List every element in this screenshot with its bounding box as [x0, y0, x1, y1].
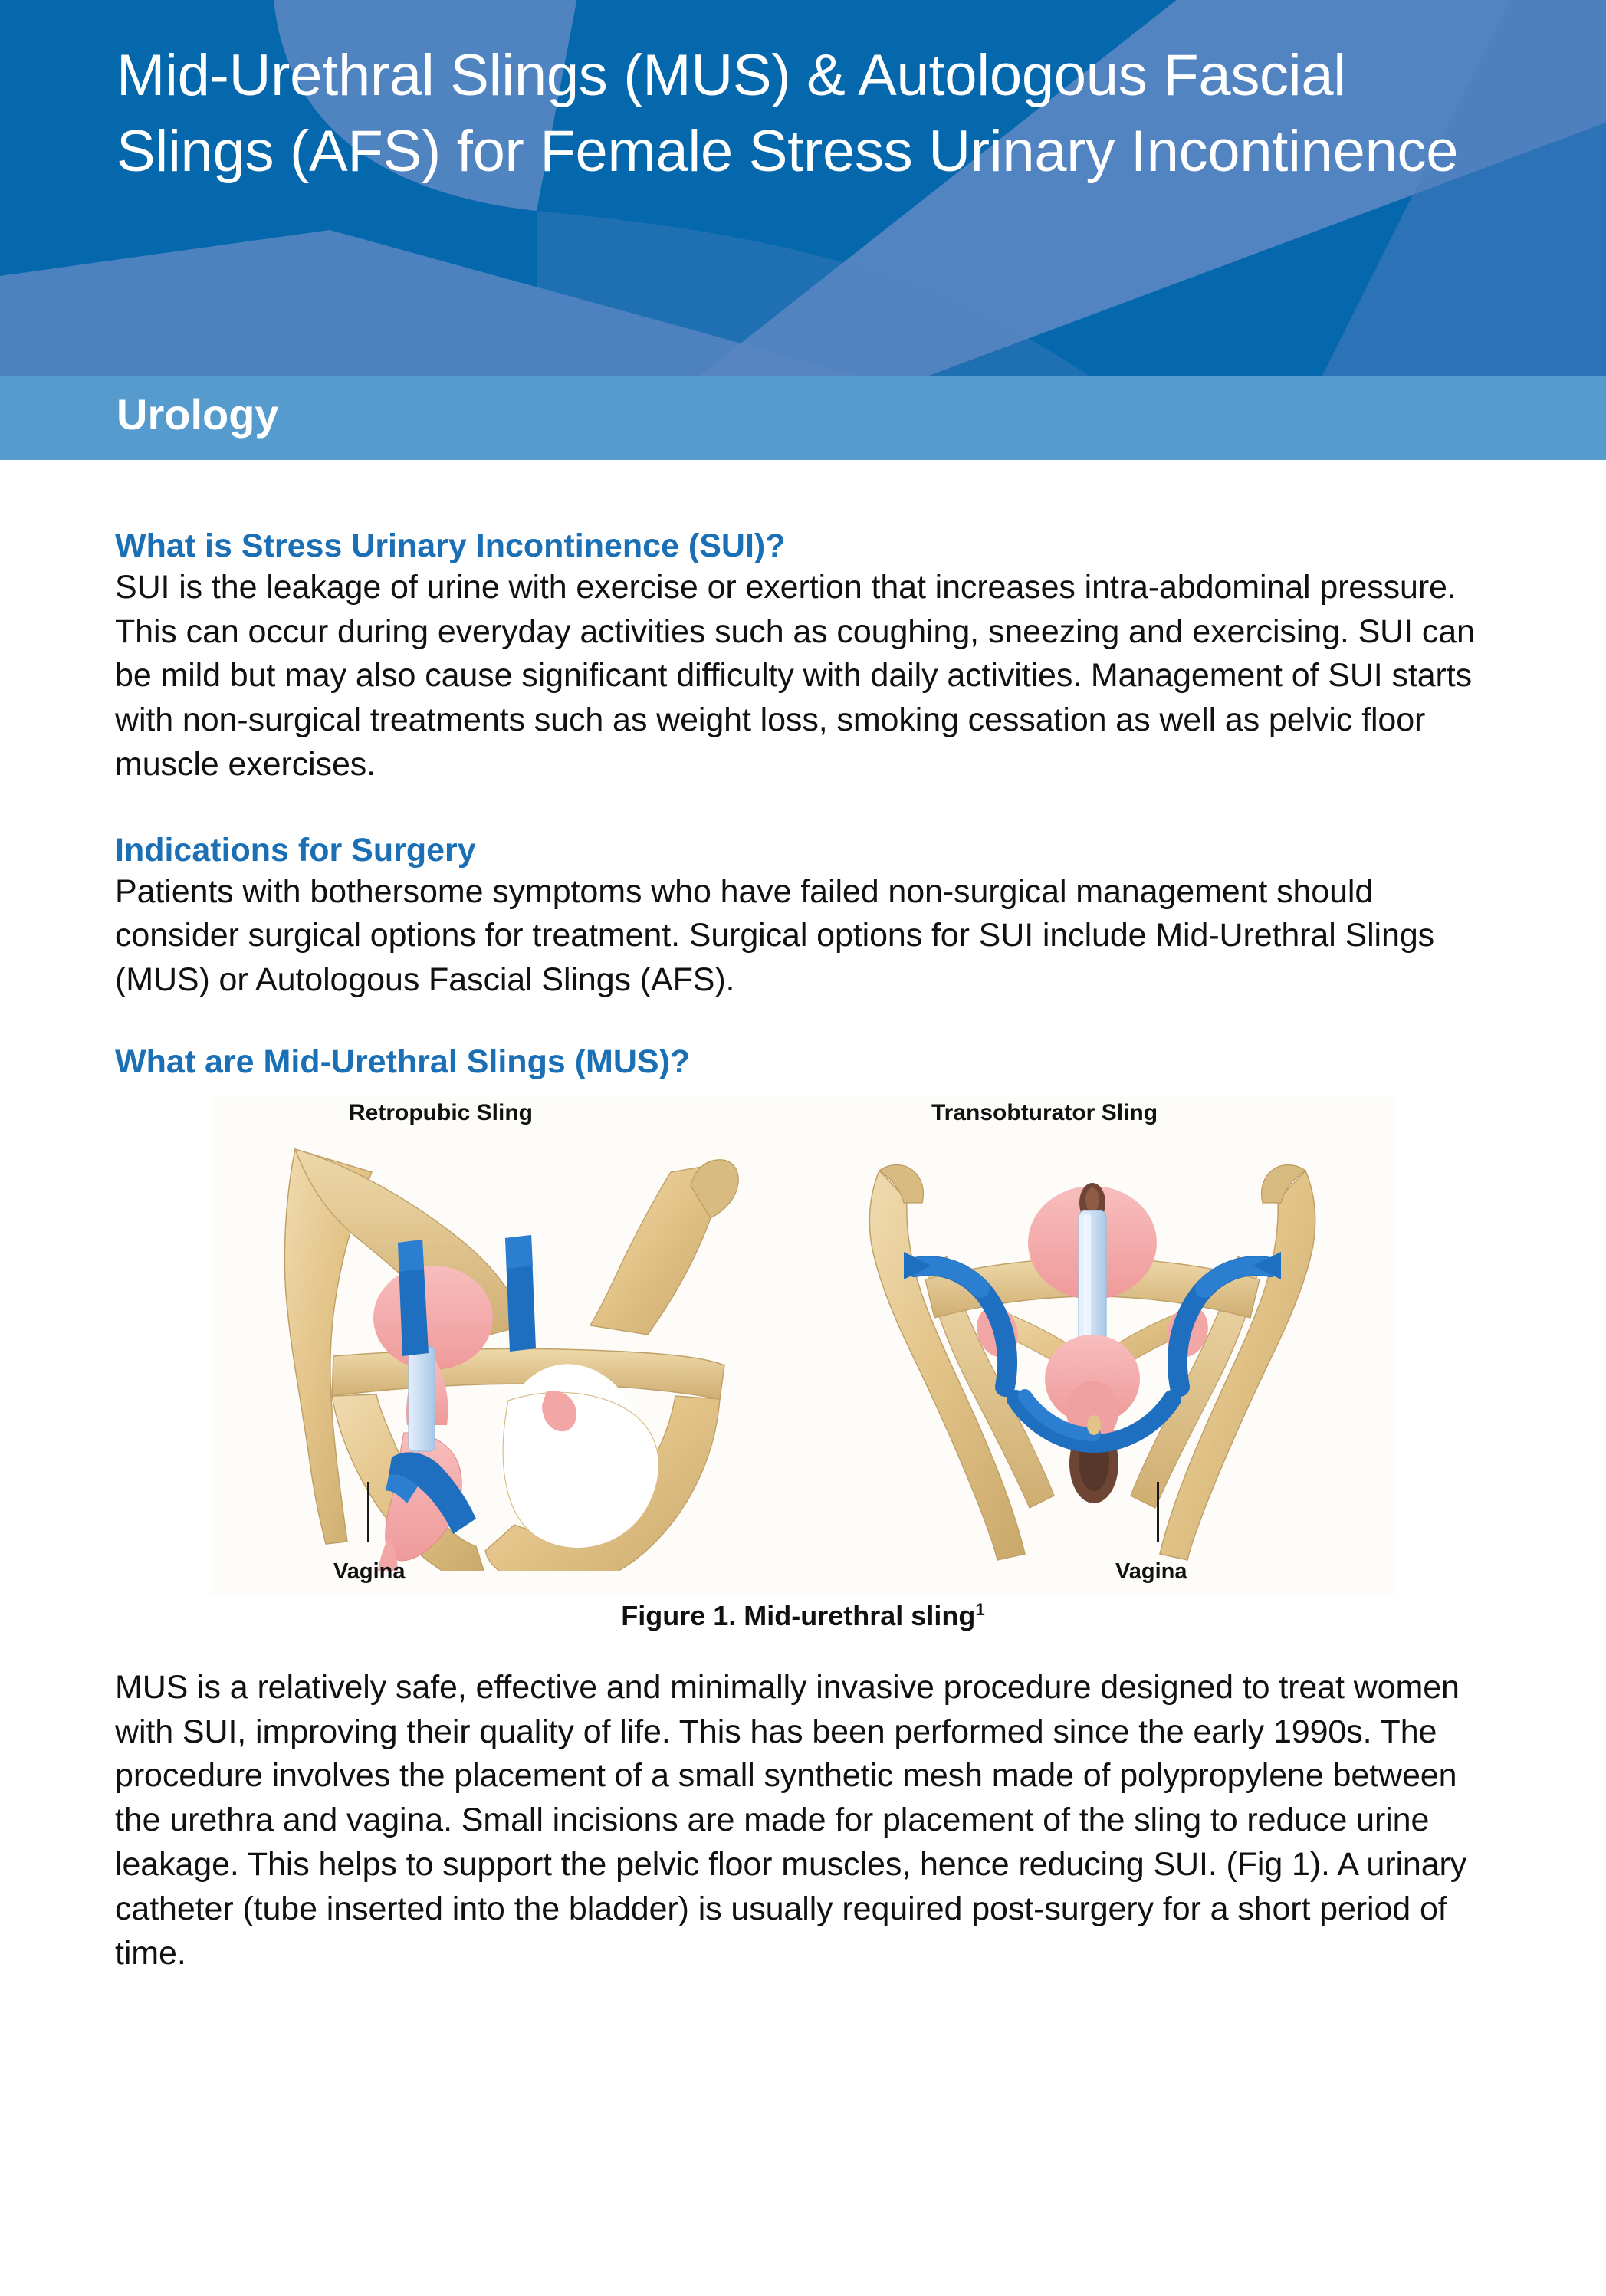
figure-annotation-vagina-left: Vagina [333, 1559, 406, 1585]
specialty-band: Urology [0, 376, 1606, 460]
figure-caption-superscript: 1 [975, 1600, 984, 1619]
section-body-sui: SUI is the leakage of urine with exercis… [115, 566, 1491, 787]
document-content: What is Stress Urinary Incontinence (SUI… [0, 460, 1606, 1976]
page-title: Mid-Urethral Slings (MUS) & Autologous F… [117, 38, 1481, 190]
retropubic-sling-illustration [241, 1126, 778, 1571]
page-header: Mid-Urethral Slings (MUS) & Autologous F… [0, 0, 1606, 376]
specialty-label: Urology [117, 389, 279, 439]
figure-caption: Figure 1. Mid-urethral sling1 [211, 1595, 1395, 1632]
figure-panel-label-transobturator: Transobturator Sling [931, 1100, 1158, 1126]
leader-line-left [367, 1482, 369, 1542]
figure-1: Retropubic Sling Transobturator Sling [211, 1097, 1395, 1632]
section-heading-mus: What are Mid-Urethral Slings (MUS)? [115, 1043, 1491, 1082]
figure-panel-label-retropubic: Retropubic Sling [349, 1100, 533, 1126]
figure-image-box: Retropubic Sling Transobturator Sling [211, 1097, 1395, 1595]
section-heading-indications: Indications for Surgery [115, 831, 1491, 870]
figure-annotation-vagina-right: Vagina [1115, 1559, 1187, 1585]
figure-caption-text: Figure 1. Mid-urethral sling [621, 1600, 975, 1631]
section-body-mus: MUS is a relatively safe, effective and … [115, 1666, 1491, 1976]
transobturator-sling-illustration [824, 1126, 1361, 1571]
section-heading-sui: What is Stress Urinary Incontinence (SUI… [115, 527, 1491, 566]
section-body-indications: Patients with bothersome symptoms who ha… [115, 870, 1491, 1003]
leader-line-right [1157, 1482, 1159, 1542]
